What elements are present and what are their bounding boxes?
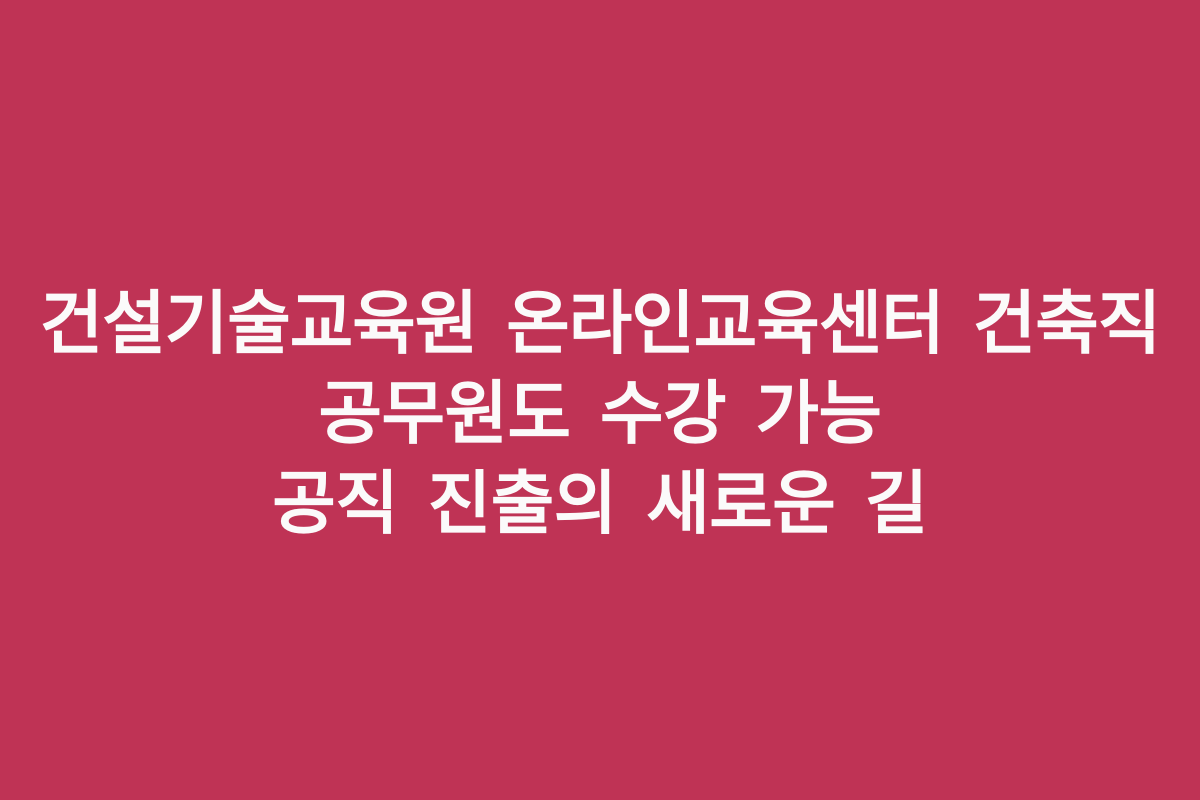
promo-banner: 건설기술교육원 온라인교육센터 건축직 공무원도 수강 가능 공직 진출의 새로… — [0, 0, 1200, 800]
headline-line-3: 공직 진출의 새로운 길 — [20, 459, 1180, 549]
banner-headline: 건설기술교육원 온라인교육센터 건축직 공무원도 수강 가능 공직 진출의 새로… — [20, 279, 1180, 549]
headline-line-2: 공무원도 수강 가능 — [20, 369, 1180, 459]
headline-line-1: 건설기술교육원 온라인교육센터 건축직 — [20, 279, 1180, 369]
